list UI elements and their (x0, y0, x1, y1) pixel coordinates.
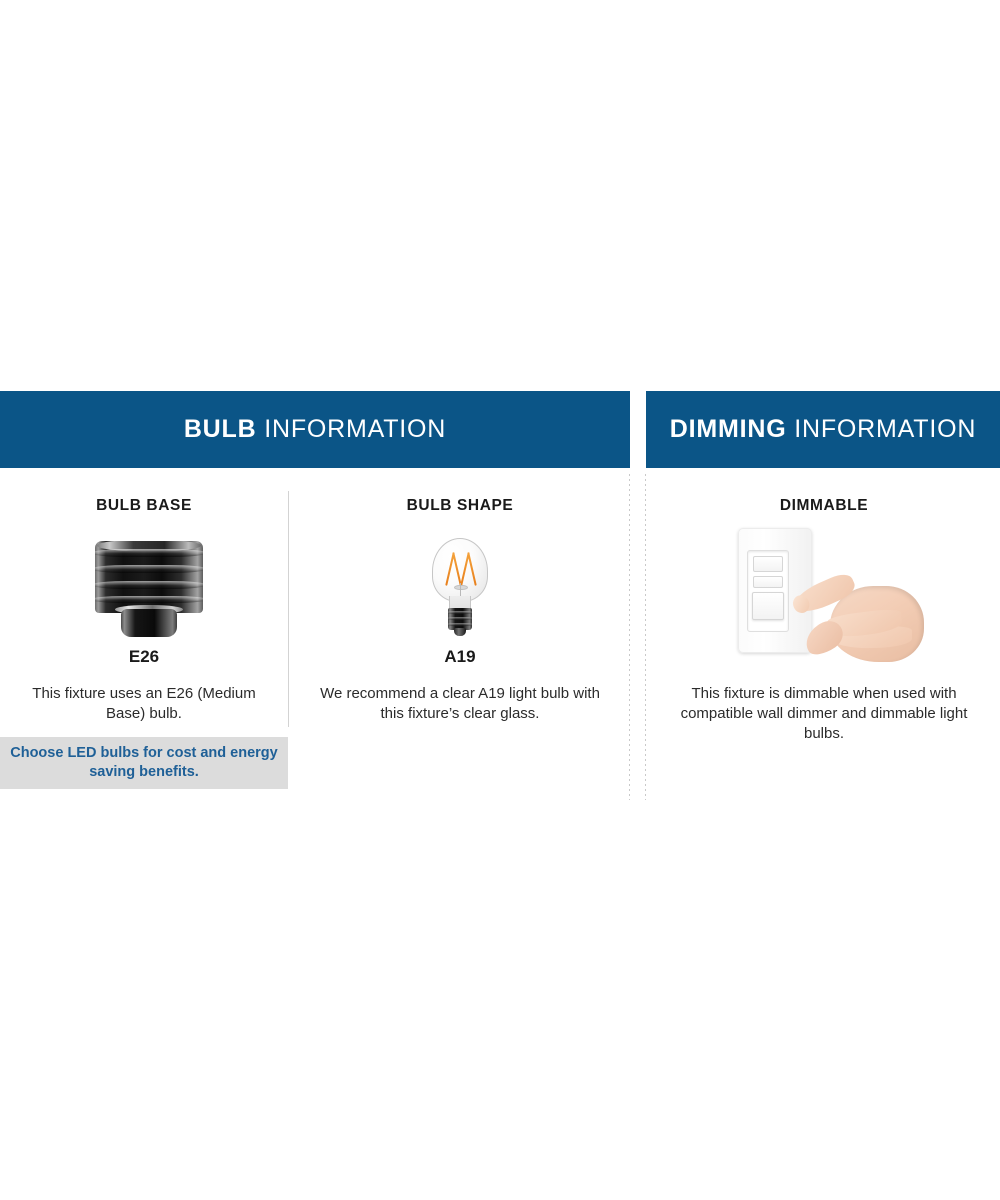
dimmable-column: DIMMABLE (648, 497, 1000, 515)
a19-glass (432, 538, 488, 602)
section-divider-left-dotted (629, 474, 630, 800)
dimmer-rocker-bottom (752, 592, 784, 620)
bulb-columns-divider (288, 491, 289, 727)
bulb-shape-column: BULB SHAPE (292, 497, 628, 515)
bulb-base-column: BULB BASE (0, 497, 288, 515)
a19-spec-label: A19 (292, 647, 628, 667)
bulb-base-description-wrap: This fixture uses an E26 (Medium Base) b… (24, 684, 264, 724)
e26-screw-base-icon (95, 541, 203, 637)
e26-thread (95, 581, 203, 589)
a19-stem-base (454, 585, 468, 590)
e26-thread (95, 565, 203, 573)
a19-screw-base (448, 608, 472, 630)
bulb-base-title: BULB BASE (0, 497, 288, 515)
a19-spec-wrap: A19 (292, 647, 628, 667)
dimmer-rocker-middle (753, 576, 783, 588)
wall-dimmer-hand-icon (730, 528, 925, 670)
dimmable-title: DIMMABLE (648, 497, 1000, 515)
bulb-base-description: This fixture uses an E26 (Medium Base) b… (24, 684, 264, 724)
a19-bulb-icon (432, 538, 488, 638)
e26-tip (121, 609, 177, 637)
dimmer-rocker-top (753, 556, 783, 572)
bulb-information-header-title: BULB INFORMATION (184, 415, 446, 444)
a19-base-tip (454, 628, 466, 636)
e26-shell (95, 541, 203, 613)
dimming-information-header-title: DIMMING INFORMATION (670, 415, 976, 444)
bulb-information-header-rest: INFORMATION (264, 415, 446, 443)
led-callout-box: Choose LED bulbs for cost and energy sav… (0, 737, 288, 789)
dimming-information-header: DIMMING INFORMATION (646, 391, 1000, 468)
dimming-information-header-rest: INFORMATION (794, 415, 976, 443)
dimmable-description: This fixture is dimmable when used with … (668, 684, 980, 744)
section-divider-right-dotted (645, 474, 646, 800)
a19-filament (467, 552, 477, 586)
hand-illustration (784, 560, 924, 666)
e26-thread (95, 596, 203, 603)
dimmable-description-wrap: This fixture is dimmable when used with … (668, 684, 980, 744)
e26-thread (95, 549, 203, 557)
bulb-information-header-strong: BULB (184, 415, 257, 443)
bulb-information-header: BULB INFORMATION (0, 391, 630, 468)
bulb-shape-description: We recommend a clear A19 light bulb with… (318, 684, 602, 724)
bulb-shape-description-wrap: We recommend a clear A19 light bulb with… (318, 684, 602, 724)
dimming-information-header-strong: DIMMING (670, 415, 787, 443)
e26-spec-label: E26 (0, 647, 288, 667)
e26-spec-wrap: E26 (0, 647, 288, 667)
led-callout-text: Choose LED bulbs for cost and energy sav… (0, 744, 288, 782)
bulb-shape-title: BULB SHAPE (292, 497, 628, 515)
